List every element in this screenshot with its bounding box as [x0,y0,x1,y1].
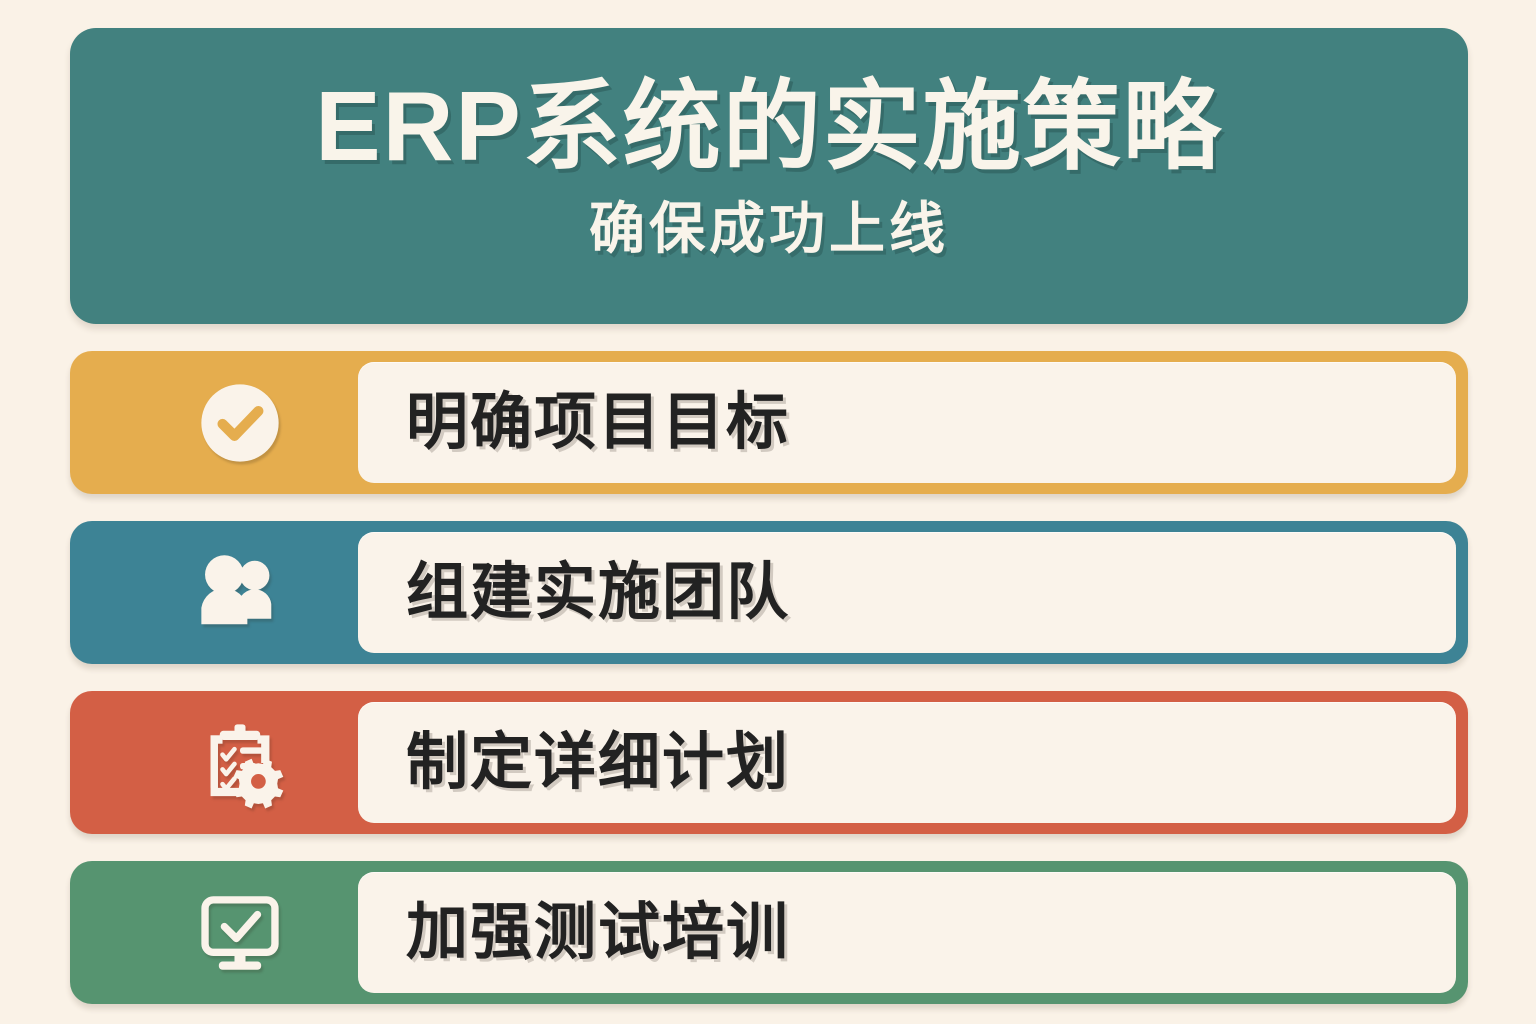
step-row[interactable]: 明确项目目标 [70,351,1468,494]
infographic-poster: ERP系统的实施策略 确保成功上线 明确项目目标 [0,0,1536,1024]
check-circle-icon [194,377,286,469]
team-people-icon [194,547,286,639]
step-label: 制定详细计划 [406,732,790,794]
step-label: 组建实施团队 [406,562,790,624]
step-row[interactable]: 制定详细计划 [70,691,1468,834]
page-title: ERP系统的实施策略 [315,75,1223,178]
step-row[interactable]: 加强测试培训 [70,861,1468,1004]
step-icon-area [70,861,370,1004]
clipboard-gear-icon [194,717,286,809]
step-icon-area [70,691,370,834]
step-icon-area [70,521,370,664]
header-banner: ERP系统的实施策略 确保成功上线 [70,28,1468,324]
step-label: 加强测试培训 [406,902,790,964]
step-card: 组建实施团队 [358,532,1456,653]
step-card: 明确项目目标 [358,362,1456,483]
monitor-check-icon [194,887,286,979]
page-subtitle: 确保成功上线 [589,184,949,265]
step-row[interactable]: 组建实施团队 [70,521,1468,664]
steps-list: 明确项目目标 组建实施团队 [0,351,1536,1004]
step-icon-area [70,351,370,494]
step-card: 加强测试培训 [358,872,1456,993]
step-card: 制定详细计划 [358,702,1456,823]
step-label: 明确项目目标 [406,392,790,454]
